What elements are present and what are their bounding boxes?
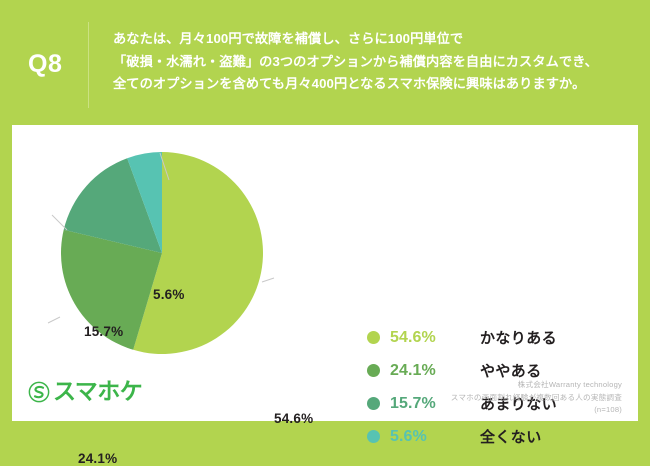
pie-value-label-yaya: 24.1%: [78, 451, 117, 466]
logo-wordmark: スマホケ: [53, 380, 142, 403]
leader-line-24-1: [48, 317, 60, 323]
legend-color-swatch-icon: [367, 430, 380, 443]
source-credit: 株式会社Warranty technology スマホの画面割れ経験が複数回ある…: [451, 379, 622, 417]
source-line-company: 株式会社Warranty technology: [451, 379, 622, 392]
question-text: あなたは、月々100円で故障を補償し、さらに100円単位で 「破損・水濡れ・盗難…: [113, 28, 633, 96]
legend-percent: 5.6%: [390, 428, 462, 446]
infographic-root: Q8 あなたは、月々100円で故障を補償し、さらに100円単位で 「破損・水濡れ…: [0, 0, 650, 434]
legend-item-mattaku: 5.6% 全くない: [367, 420, 632, 453]
smahoke-logo: スマホケ: [28, 380, 142, 403]
legend-percent: 54.6%: [390, 329, 462, 347]
leader-line-54-6: [262, 278, 274, 282]
question-line-2: 「破損・水濡れ・盗難」の3つのオプションから補償内容を自由にカスタムでき、: [113, 51, 633, 74]
legend-color-swatch-icon: [367, 331, 380, 344]
pie-value-label-mattaku: 5.6%: [153, 287, 185, 302]
pie-value-label-amari: 15.7%: [84, 324, 123, 339]
pie-chart: [12, 125, 352, 375]
question-line-3: 全てのオプションを含めても月々400円となるスマホ保険に興味はありますか。: [113, 73, 633, 96]
question-number: Q8: [28, 52, 62, 77]
legend-item-kanari: 54.6% かなりある: [367, 321, 632, 354]
legend-label: かなりある: [480, 327, 557, 348]
source-line-sample-size: (n=108): [451, 404, 622, 417]
legend-label: 全くない: [480, 426, 542, 447]
result-card: 54.6% 24.1% 15.7% 5.6% 54.6% かなりある 24.1%…: [12, 125, 638, 421]
question-header: Q8 あなたは、月々100円で故障を補償し、さらに100円単位で 「破損・水濡れ…: [0, 0, 650, 125]
leader-line-15-7: [52, 215, 67, 230]
header-divider: [88, 22, 89, 108]
source-line-survey: スマホの画面割れ経験が複数回ある人の実態調査: [451, 392, 622, 405]
question-line-1: あなたは、月々100円で故障を補償し、さらに100円単位で: [113, 28, 633, 51]
pie-chart-svg: [12, 125, 352, 375]
smahoke-s-mark-icon: [28, 381, 50, 403]
card-footer: スマホケ 株式会社Warranty technology スマホの画面割れ経験が…: [12, 375, 638, 421]
